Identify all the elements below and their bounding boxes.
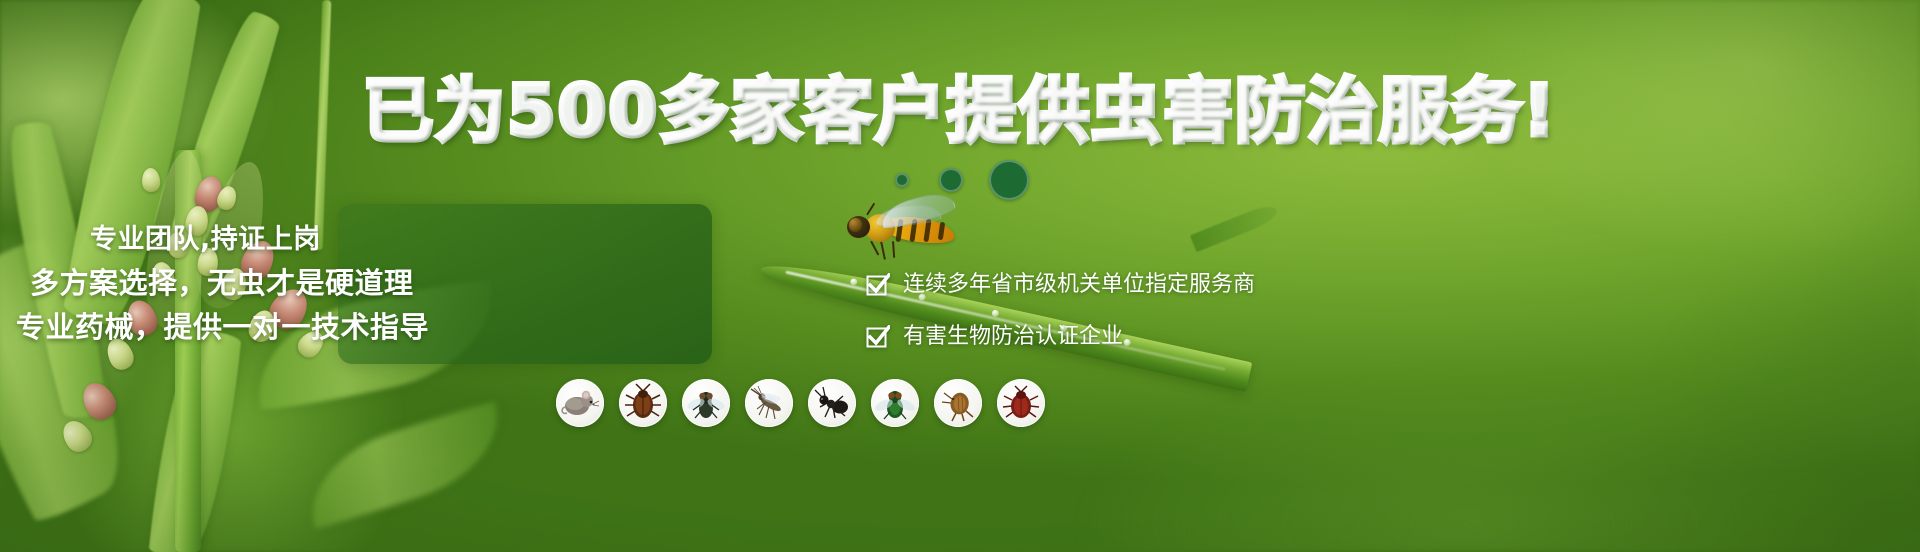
pest-icon-row — [556, 379, 1045, 427]
ant-icon[interactable] — [808, 379, 856, 427]
slogan-line-3: 专业药械，提供一对一技术指导 — [8, 311, 760, 343]
mouse-icon[interactable] — [556, 379, 604, 427]
slogan-text-group: 专业团队,持证上岗 多方案选择，无虫才是硬道理 专业药械，提供一对一技术指导 — [0, 204, 760, 364]
list-item-label: 连续多年省市级机关单位指定服务商 — [903, 272, 1255, 298]
slogan-line-2: 多方案选择，无虫才是硬道理 — [8, 267, 760, 299]
decorative-dot-medium — [939, 168, 963, 192]
mosquito-icon[interactable] — [745, 379, 793, 427]
blowfly-icon[interactable] — [871, 379, 919, 427]
certification-bullet-list: 连续多年省市级机关单位指定服务商 有害生物防治认证企业 — [866, 272, 1326, 376]
list-item-label: 有害生物防治认证企业 — [903, 324, 1123, 350]
cockroach-icon[interactable] — [619, 379, 667, 427]
decorative-dot-small — [895, 173, 909, 187]
fly-icon[interactable] — [682, 379, 730, 427]
slogan-line-1: 专业团队,持证上岗 — [8, 225, 760, 255]
flea-icon[interactable] — [934, 379, 982, 427]
checkbox-checked-icon — [866, 273, 890, 297]
list-item: 连续多年省市级机关单位指定服务商 — [866, 272, 1326, 298]
bedbug-icon[interactable] — [997, 379, 1045, 427]
pest-control-banner: 已为500多家客户提供虫害防治服务! 专业团队,持证上岗 多方案选择，无虫才是硬… — [0, 0, 1920, 552]
decorative-dot-row — [0, 160, 1920, 200]
decorative-dot-large — [989, 160, 1029, 200]
list-item: 有害生物防治认证企业 — [866, 324, 1326, 350]
banner-headline-text: 已为500多家客户提供虫害防治服务! — [363, 72, 1557, 150]
checkbox-checked-icon — [866, 325, 890, 349]
banner-headline: 已为500多家客户提供虫害防治服务! — [0, 72, 1920, 150]
